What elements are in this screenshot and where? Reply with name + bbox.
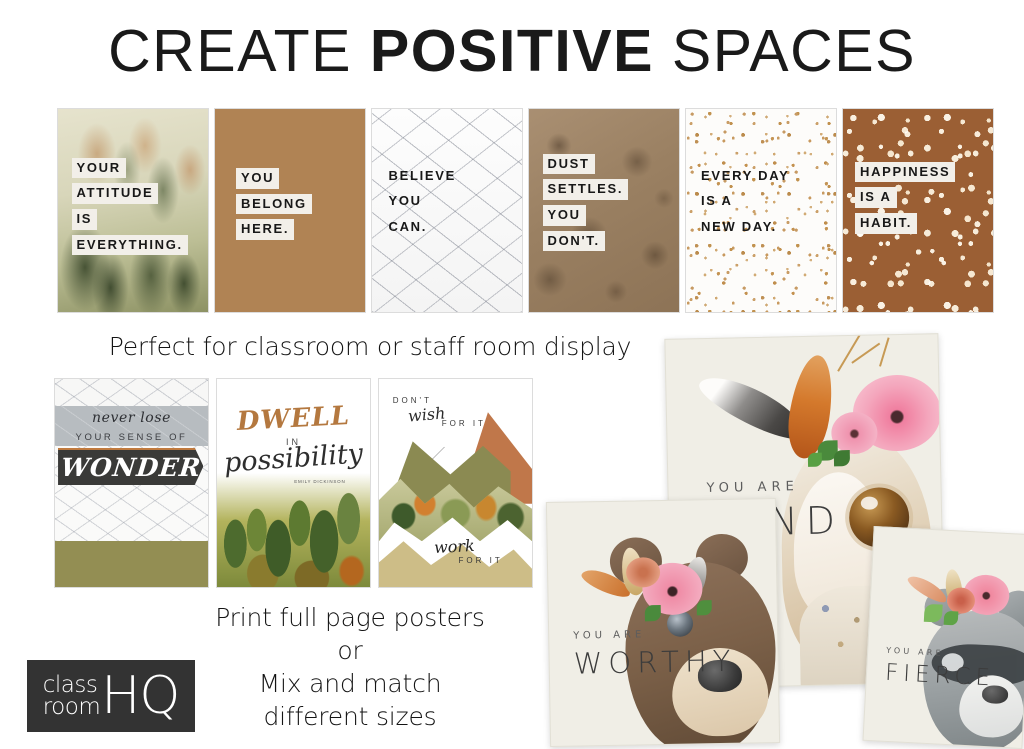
quote-line: EVERYTHING. <box>72 235 188 256</box>
twig-icon <box>851 343 880 364</box>
poster-card-attitude[interactable]: YOUR ATTITUDE IS EVERYTHING. <box>57 108 209 313</box>
twig-icon <box>837 333 862 372</box>
quote-line: IS A <box>855 187 897 208</box>
quote-line: BELIEVE <box>389 166 457 187</box>
animal-card-fierce[interactable]: YOU ARE FIERCE <box>862 526 1024 749</box>
poster-quote-attitude: YOUR ATTITUDE IS EVERYTHING. <box>72 158 200 256</box>
tagline-line-1: Print full page posters <box>0 601 700 634</box>
logo-line-class: class <box>43 674 101 696</box>
logo-wordmark-stack: class room <box>43 674 101 718</box>
work-for-it-bottom: FOR IT <box>459 556 503 565</box>
title-part-create: CREATE <box>108 18 370 84</box>
quote-line: HERE. <box>236 219 294 240</box>
twig-icon <box>879 337 890 366</box>
work-for-it-top: FOR IT <box>442 419 486 428</box>
wonder-banner: WONDER <box>58 448 203 485</box>
tagline-classroom-display: Perfect for classroom or staff room disp… <box>0 332 740 361</box>
poster-background-line-art-top <box>55 379 208 406</box>
work-wish-script: wish <box>407 403 446 425</box>
work-work-script: work <box>434 536 476 557</box>
quote-line: YOU <box>543 205 586 226</box>
title-part-spaces: SPACES <box>654 18 916 84</box>
logo-hq-text: HQ <box>101 673 179 720</box>
poster-quote-believe: BELIEVE YOU CAN. <box>389 166 514 238</box>
quote-line: DUST <box>543 154 595 175</box>
quote-line: ATTITUDE <box>72 183 159 204</box>
quote-line: YOU <box>389 191 422 212</box>
poster-quote-happiness: HAPPINESS IS A HABIT. <box>855 162 984 234</box>
quote-line: NEW DAY. <box>701 217 777 238</box>
quote-line: DON'T. <box>543 231 605 252</box>
card-word-fierce: FIERCE <box>884 660 995 692</box>
poster-card-happiness[interactable]: HAPPINESS IS A HABIT. <box>842 108 994 313</box>
poster-card-belong[interactable]: YOU BELONG HERE. <box>214 108 366 313</box>
page-title: CREATE POSITIVE SPACES <box>0 22 1024 81</box>
poster-card-dwell[interactable]: DWELL IN possibility EMILY DICKINSON <box>216 378 371 588</box>
poster-quote-belong: YOU BELONG HERE. <box>236 168 356 240</box>
quote-line: IS A <box>701 191 733 212</box>
poster-card-everyday[interactable]: EVERY DAY IS A NEW DAY. <box>685 108 837 313</box>
poster-watercolor-forest-art <box>217 473 370 587</box>
wonder-subtitle: YOUR SENSE OF <box>55 432 208 443</box>
poster-card-dust[interactable]: DUST SETTLES. YOU DON'T. <box>528 108 680 313</box>
brand-logo[interactable]: class room HQ <box>27 660 195 732</box>
quote-line: YOUR <box>72 158 126 179</box>
quote-line: IS <box>72 209 98 230</box>
quote-line: HABIT. <box>855 213 917 234</box>
title-part-positive: POSITIVE <box>370 18 654 84</box>
quote-line: HAPPINESS <box>855 162 955 183</box>
poster-quote-everyday: EVERY DAY IS A NEW DAY. <box>701 166 827 238</box>
dwell-attribution: EMILY DICKINSON <box>294 479 345 485</box>
quote-line: EVERY DAY <box>701 166 790 187</box>
poster-card-wonder[interactable]: never lose YOUR SENSE OF WONDER <box>54 378 209 588</box>
wonder-banner-text: WONDER <box>59 453 202 482</box>
card-prefix-text: YOU ARE <box>886 646 944 658</box>
poster-card-work[interactable]: DON'T wish FOR IT work FOR IT <box>378 378 533 588</box>
poster-quote-dust: DUST SETTLES. YOU DON'T. <box>543 154 671 252</box>
quote-line: YOU <box>236 168 279 189</box>
logo-line-room: room <box>43 696 101 718</box>
poster-card-believe[interactable]: BELIEVE YOU CAN. <box>371 108 523 313</box>
wonder-script-text: never lose <box>55 410 208 426</box>
quote-line: BELONG <box>236 194 312 215</box>
quote-line: SETTLES. <box>543 179 629 200</box>
card-prefix-text: YOU ARE <box>706 479 799 496</box>
quote-line: CAN. <box>389 217 428 238</box>
poster-olive-block <box>55 541 208 587</box>
work-dont-text: DON'T <box>393 396 432 405</box>
